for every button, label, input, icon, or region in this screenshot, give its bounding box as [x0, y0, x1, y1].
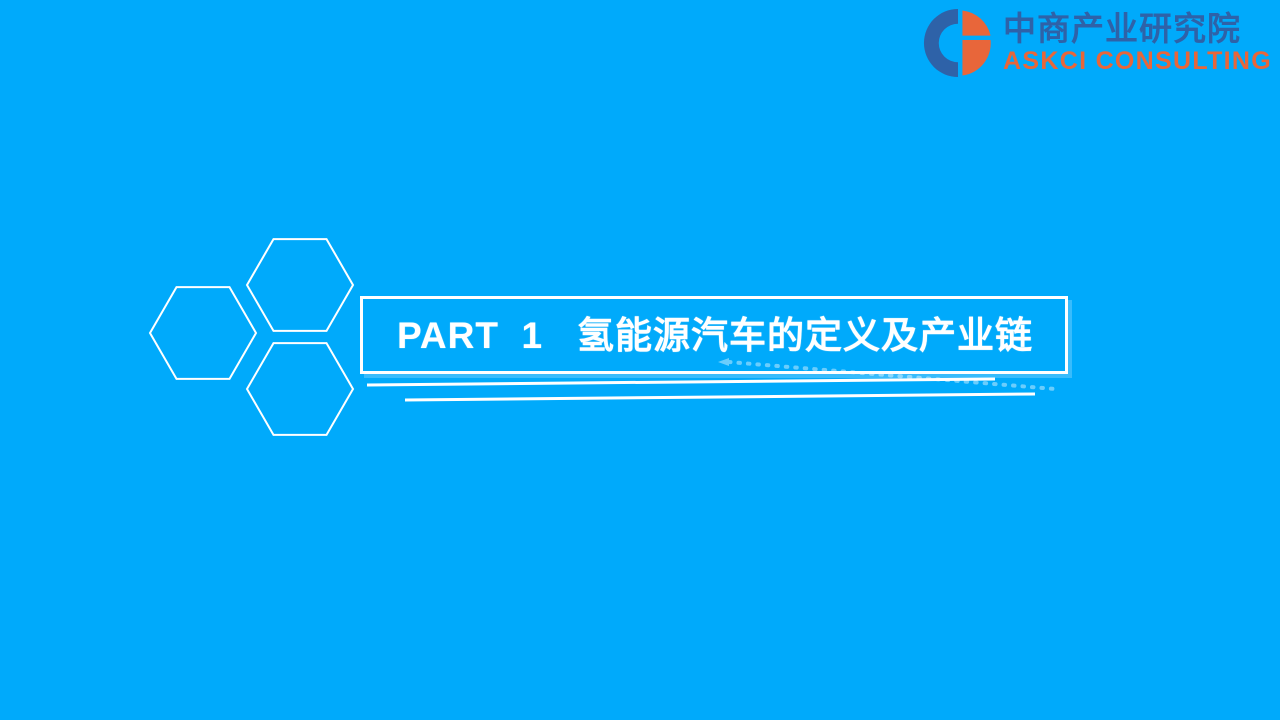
rule-line-upper [367, 379, 995, 385]
hexagon-cluster-decoration [140, 230, 370, 445]
brand-name-cn: 中商产业研究院 [1003, 11, 1272, 48]
hexagon-left-icon [150, 287, 256, 379]
brand-logo-block: 中商产业研究院 ASKCI CONSULTING [921, 6, 1272, 80]
brand-name-en: ASKCI CONSULTING [1003, 48, 1272, 74]
rule-line-lower [405, 394, 1035, 400]
brand-text-block: 中商产业研究院 ASKCI CONSULTING [1003, 11, 1272, 74]
slide-canvas: 中商产业研究院 ASKCI CONSULTING PART 1 氢能源汽车的定义… [0, 0, 1280, 720]
askci-ci-circle-logo-icon [921, 6, 995, 80]
section-title-box: PART 1 氢能源汽车的定义及产业链 [360, 296, 1068, 374]
hexagon-top-icon [247, 239, 353, 331]
page-title: PART 1 氢能源汽车的定义及产业链 [397, 317, 1033, 354]
hexagon-bottom-icon [247, 343, 353, 435]
